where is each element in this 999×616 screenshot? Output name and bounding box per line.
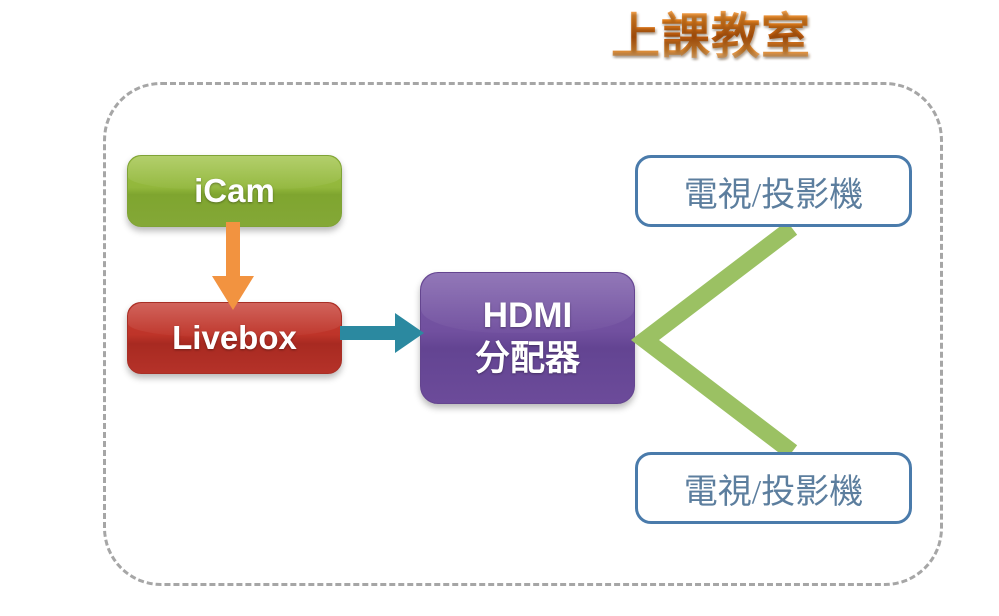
node-display-bottom[interactable]: 電視/投影機 — [635, 452, 912, 524]
hdmi-to-displays-connector — [630, 210, 820, 470]
node-livebox-label: Livebox — [172, 319, 297, 357]
icam-to-livebox-arrow — [209, 222, 257, 312]
page-title: 上課教室 — [596, 6, 826, 68]
diagram-canvas: 上課教室 上課教室 iCam Livebox HDMI 分配器 電視/投影機 電… — [0, 0, 999, 616]
livebox-to-hdmi-arrow — [340, 310, 426, 356]
node-display-top-label: 電視/投影機 — [684, 167, 863, 216]
node-icam-label: iCam — [194, 172, 275, 210]
node-livebox[interactable]: Livebox — [127, 302, 342, 374]
node-hdmi-label-line2: 分配器 — [475, 338, 580, 381]
node-icam[interactable]: iCam — [127, 155, 342, 227]
node-display-bottom-label: 電視/投影機 — [684, 464, 863, 513]
node-hdmi-splitter[interactable]: HDMI 分配器 — [420, 272, 635, 404]
node-hdmi-label-line1: HDMI — [483, 295, 572, 338]
node-display-top[interactable]: 電視/投影機 — [635, 155, 912, 227]
